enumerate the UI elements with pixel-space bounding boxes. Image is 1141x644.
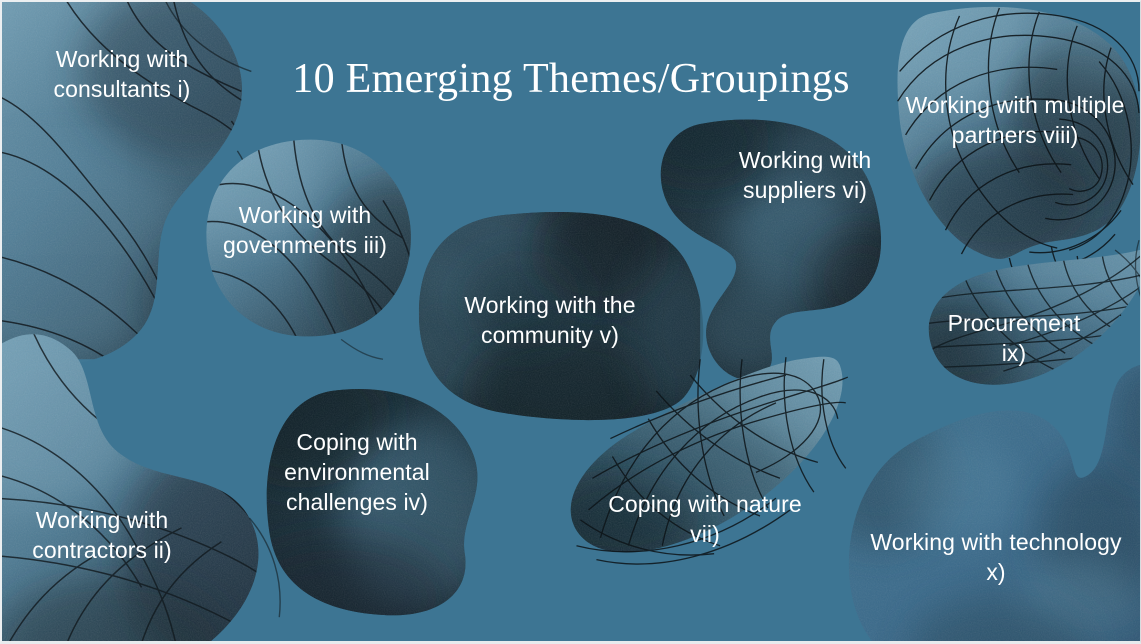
page-title: 10 Emerging Themes/Groupings xyxy=(2,54,1140,104)
blob-governments[interactable] xyxy=(182,121,461,359)
blob-technology[interactable] xyxy=(810,349,1140,641)
slide-canvas: 10 Emerging Themes/Groupings Working wit… xyxy=(0,0,1141,644)
